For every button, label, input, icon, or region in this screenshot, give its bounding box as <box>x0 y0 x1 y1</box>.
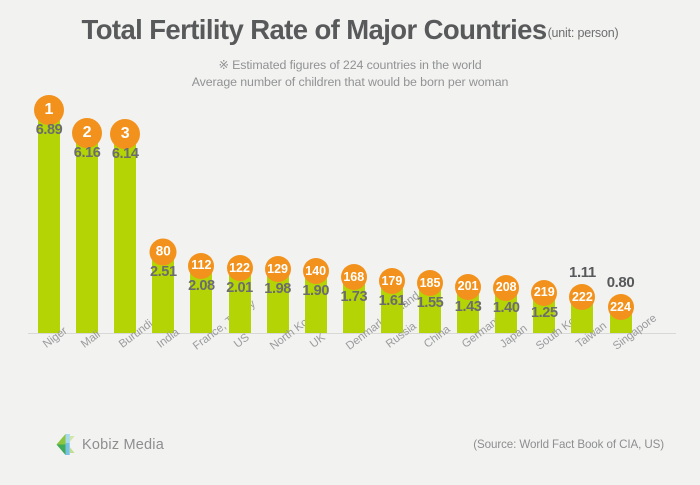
brand: Kobiz Media <box>56 434 164 455</box>
bar-group[interactable]: 1851.55 <box>419 0 441 333</box>
bar[interactable] <box>76 133 98 333</box>
source-note: (Source: World Fact Book of CIA, US) <box>473 438 664 451</box>
rank-badge[interactable]: 2 <box>72 118 102 148</box>
bar-value-label: 1.25 <box>531 305 558 321</box>
bar-value-label: 6.14 <box>112 146 139 162</box>
bar-group[interactable]: 2011.43 <box>457 0 479 333</box>
rank-badge[interactable]: 129 <box>265 256 291 282</box>
bar-group[interactable]: 1222.01 <box>229 0 251 333</box>
rank-badge[interactable]: 80 <box>150 238 177 265</box>
bar-value-label: 2.51 <box>150 264 177 280</box>
bar-group[interactable]: 2221.11 <box>571 0 593 333</box>
bar-group[interactable]: 1122.08 <box>190 0 212 333</box>
bar-group[interactable]: 1291.98 <box>267 0 289 333</box>
rank-badge[interactable]: 168 <box>341 264 367 290</box>
bar-value-label: 6.16 <box>74 145 101 161</box>
bar-value-label: 1.55 <box>417 295 444 311</box>
bar-value-label: 0.80 <box>607 274 635 291</box>
bar-group[interactable]: 36.14 <box>114 0 136 333</box>
rank-badge[interactable]: 3 <box>110 119 140 149</box>
bar-value-label: 1.43 <box>455 299 482 315</box>
bar-group[interactable]: 16.89 <box>38 0 60 333</box>
rank-badge[interactable]: 140 <box>303 258 329 284</box>
brand-name: Kobiz Media <box>82 437 164 453</box>
bar-group[interactable]: 802.51 <box>152 0 174 333</box>
bar-group[interactable]: 1401.90 <box>305 0 327 333</box>
bar-chart-plot: 16.89Niger26.16Mali36.14Burundi802.51Ind… <box>0 0 700 485</box>
category-label: US <box>232 332 252 351</box>
rank-badge[interactable]: 208 <box>493 275 519 301</box>
bar-group[interactable]: 1791.61 <box>381 0 403 333</box>
rank-badge[interactable]: 179 <box>379 268 405 294</box>
kobiz-k-logo-icon <box>56 434 75 455</box>
bar-value-label: 1.11 <box>569 264 596 281</box>
rank-badge[interactable]: 224 <box>608 294 634 320</box>
bar-value-label: 6.89 <box>36 122 63 138</box>
bar-group[interactable]: 26.16 <box>76 0 98 333</box>
rank-badge[interactable]: 112 <box>188 253 214 279</box>
bar-group[interactable]: 2081.40 <box>495 0 517 333</box>
rank-badge[interactable]: 222 <box>569 284 595 310</box>
bar-value-label: 1.73 <box>340 289 367 305</box>
bar-value-label: 2.08 <box>188 278 215 294</box>
bar-value-label: 1.90 <box>302 283 329 299</box>
rank-badge[interactable]: 219 <box>531 280 557 306</box>
bar[interactable] <box>114 134 136 333</box>
chart-footer: Kobiz Media (Source: World Fact Book of … <box>0 430 700 470</box>
rank-badge[interactable]: 185 <box>417 270 443 296</box>
rank-badge[interactable]: 1 <box>34 95 64 125</box>
bar-group[interactable]: 2240.80 <box>610 0 632 333</box>
bar-value-label: 1.61 <box>379 293 406 309</box>
bar[interactable] <box>38 110 60 333</box>
bar-value-label: 1.40 <box>493 300 520 316</box>
bar-group[interactable]: 1681.73 <box>343 0 365 333</box>
infographic-root: Total Fertility Rate of Major Countries(… <box>0 0 700 485</box>
rank-badge[interactable]: 201 <box>455 274 481 300</box>
bar-value-label: 1.98 <box>264 281 291 297</box>
bar-group[interactable]: 2191.25 <box>533 0 555 333</box>
rank-badge[interactable]: 122 <box>227 255 253 281</box>
category-label: UK <box>308 332 328 351</box>
bar-value-label: 2.01 <box>226 280 253 296</box>
